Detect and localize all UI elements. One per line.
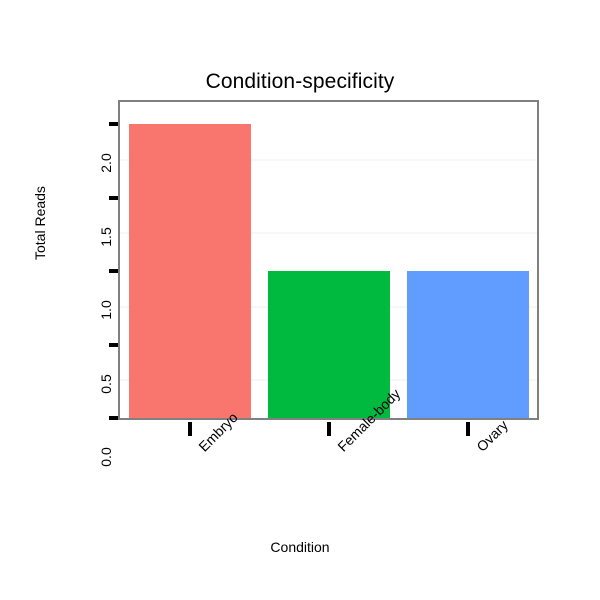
bar-female-body [268,271,390,418]
plot-panel [118,100,539,420]
y-axis-title: Total Reads [33,186,47,260]
x-axis-tick [188,422,192,436]
y-axis-line [118,100,120,420]
y-axis-tick-label: 2.0 [99,124,113,202]
y-axis-tick-label: 1.0 [99,271,113,349]
x-axis-tick-label: Female-body [335,444,345,454]
chart-title: Condition-specificity [0,70,600,94]
bar-ovary [407,271,529,418]
bar-embryo [129,124,251,418]
plot-area [120,102,537,418]
x-axis-tick-label: Embryo [196,444,206,454]
y-axis-tick-label: 0.5 [99,345,113,423]
x-axis-tick [466,422,470,436]
x-axis-tick [327,422,331,436]
y-axis-tick-label: 0.0 [99,418,113,496]
bar-chart: Condition-specificity 0.00.51.01.52.0 To… [0,0,600,600]
y-axis-tick-label: 1.5 [99,198,113,276]
x-axis-tick-label: Ovary [474,444,484,454]
x-axis-title: Condition [0,539,600,555]
